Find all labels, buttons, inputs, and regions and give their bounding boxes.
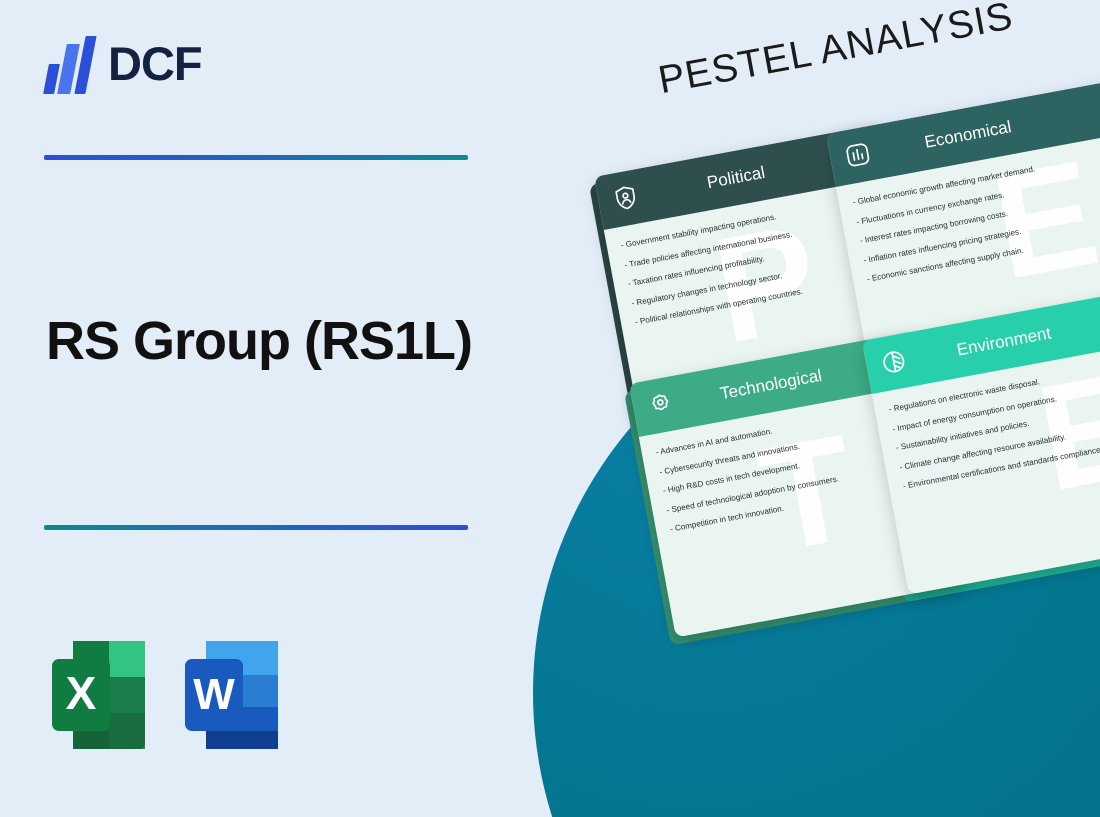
pestel-title: PESTEL ANALYSIS (655, 0, 1100, 103)
excel-letter: X (66, 667, 97, 719)
dcf-bars-logo-icon (46, 32, 98, 94)
brand-logo[interactable]: DCF (46, 32, 202, 94)
divider-top (44, 155, 468, 160)
word-letter: W (193, 670, 235, 719)
download-icons: X W (46, 635, 284, 755)
pestel-board: Political P Government stability impacti… (560, 100, 1100, 640)
divider-bottom (44, 525, 468, 530)
slide-canvas: DCF RS Group (RS1L) X (0, 0, 1100, 817)
word-file-icon[interactable]: W (179, 635, 284, 755)
page-title: RS Group (RS1L) (46, 312, 516, 371)
brand-name: DCF (108, 40, 202, 87)
excel-file-icon[interactable]: X (46, 635, 151, 755)
